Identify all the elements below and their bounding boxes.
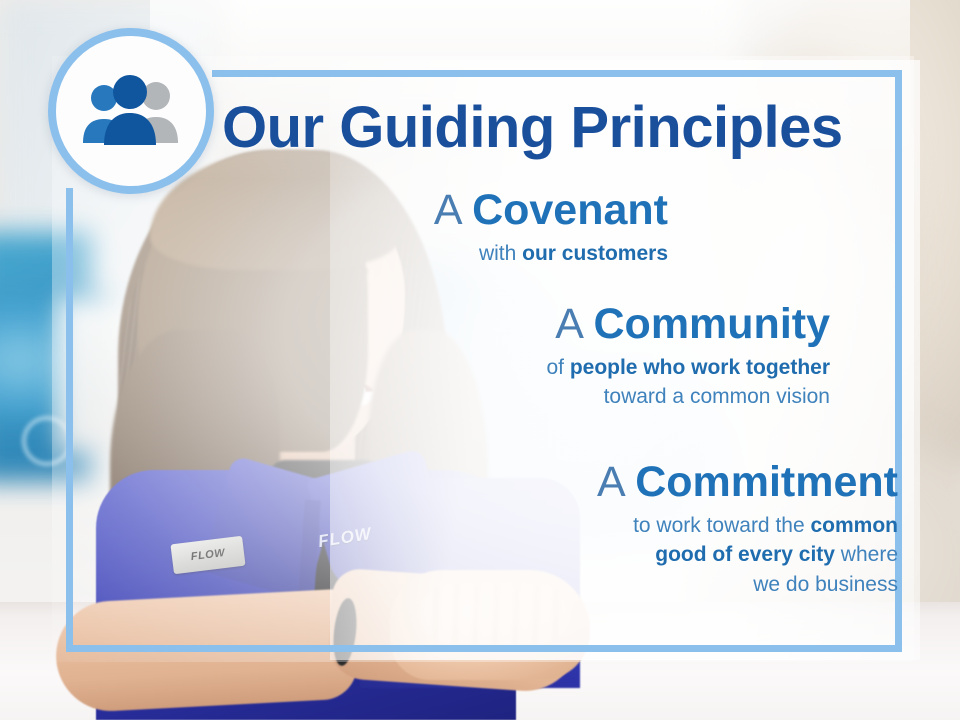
people-group-badge bbox=[48, 28, 214, 194]
subtext-run: to work toward the bbox=[633, 514, 810, 537]
principle-commitment: A Commitment to work toward the commongo… bbox=[597, 460, 898, 600]
principle-community-headline: A Community bbox=[546, 302, 830, 348]
subtext-emphasis: people who work together bbox=[570, 356, 830, 379]
subtext-emphasis: common bbox=[810, 514, 898, 537]
subtext-run: with bbox=[479, 242, 522, 265]
subtext-run: of bbox=[546, 356, 569, 379]
subtext-line: of people who work together bbox=[546, 353, 830, 383]
page-title: Our Guiding Principles bbox=[222, 94, 843, 161]
principle-commitment-article: A bbox=[597, 458, 623, 506]
principle-community-article: A bbox=[555, 300, 581, 348]
subtext-emphasis: good of every city bbox=[655, 543, 835, 566]
name-badge-logo-text: FLOW bbox=[190, 547, 226, 563]
principle-covenant-subtext: with our customers bbox=[434, 239, 668, 269]
subtext-run: where bbox=[835, 543, 898, 566]
principle-covenant-article: A bbox=[434, 186, 460, 234]
principle-community-keyword: Community bbox=[594, 300, 831, 348]
frame-border-top bbox=[212, 70, 902, 77]
subtext-line: we do business bbox=[597, 570, 898, 600]
subtext-emphasis: our customers bbox=[522, 242, 668, 265]
subtext-line: toward a common vision bbox=[546, 382, 830, 412]
principle-commitment-keyword: Commitment bbox=[635, 458, 898, 506]
subtext-line: good of every city where bbox=[597, 540, 898, 570]
principle-covenant: A Covenant with our customers bbox=[434, 188, 668, 268]
guiding-principles-graphic: FLOW FLOW bbox=[0, 0, 960, 720]
principle-covenant-headline: A Covenant bbox=[434, 188, 668, 234]
principle-covenant-keyword: Covenant bbox=[472, 186, 668, 234]
subtext-line: to work toward the common bbox=[597, 511, 898, 541]
principle-community: A Community of people who work togethert… bbox=[546, 302, 830, 412]
frame-border-left bbox=[66, 188, 73, 652]
principle-community-subtext: of people who work togethertoward a comm… bbox=[546, 353, 830, 413]
principle-commitment-headline: A Commitment bbox=[597, 460, 898, 506]
frame-border-bottom bbox=[66, 645, 902, 652]
people-group-icon bbox=[76, 72, 186, 150]
subtext-line: with our customers bbox=[434, 239, 668, 269]
subtext-run: toward a common vision bbox=[604, 385, 830, 408]
principle-commitment-subtext: to work toward the commongood of every c… bbox=[597, 511, 898, 600]
employee-fingers bbox=[420, 584, 570, 644]
subtext-run: we do business bbox=[753, 573, 898, 596]
